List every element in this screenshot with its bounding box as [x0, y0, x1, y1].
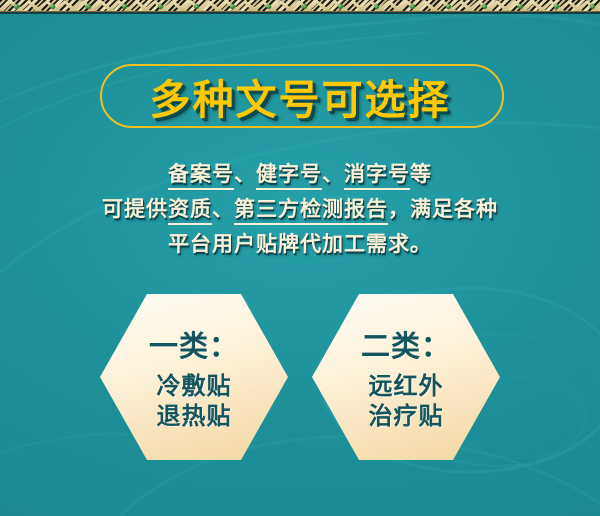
category-hexagon-one: 一类： 冷敷贴 退热贴: [100, 294, 288, 460]
border-gem-icon: [338, 4, 343, 9]
promo-poster: 多种文号可选择 备案号、健字号、消字号等可提供资质、第三方检测报告，满足各种平台…: [0, 0, 600, 516]
plain-text: 平台用户贴牌代加工需求。: [168, 231, 432, 256]
border-gem-icon: [302, 4, 307, 9]
border-gem-icon: [410, 4, 415, 9]
highlighted-term: 备案号: [168, 161, 234, 190]
highlighted-term: 消字号: [344, 161, 410, 190]
category-one-item-1: 冷敷贴: [157, 371, 232, 401]
border-gem-icon: [374, 4, 379, 9]
plain-text: ，满足各种: [388, 196, 498, 221]
border-gem-icon: [266, 4, 271, 9]
border-gem-icon: [230, 4, 235, 9]
border-gem-icon: [50, 4, 55, 9]
border-gem-icon: [158, 4, 163, 9]
category-one-item-2: 退热贴: [157, 401, 232, 431]
category-hexagon-two: 二类： 远红外 治疗贴: [312, 294, 500, 460]
category-one-title: 一类：: [149, 323, 239, 365]
border-gem-icon: [554, 4, 559, 9]
plain-text: 、: [234, 161, 256, 186]
plain-text: 可提供: [102, 196, 168, 221]
decorative-top-border: [0, 0, 600, 15]
page-title: 多种文号可选择: [0, 62, 600, 130]
category-two-item-1: 远红外: [369, 371, 444, 401]
border-gem-icon: [446, 4, 451, 9]
highlighted-term: 资质: [168, 196, 212, 225]
border-gem-icon: [194, 4, 199, 9]
description-line: 备案号、健字号、消字号等: [0, 156, 600, 191]
category-two-item-2: 治疗贴: [369, 401, 444, 431]
border-gem-icon: [518, 4, 523, 9]
plain-text: 等: [410, 161, 432, 186]
category-two-title: 二类：: [361, 323, 451, 365]
border-gem-icon: [482, 4, 487, 9]
border-gem-icon: [122, 4, 127, 9]
border-gem-icon: [14, 4, 19, 9]
border-gem-icon: [590, 4, 595, 9]
plain-text: 、: [212, 196, 234, 221]
highlighted-term: 健字号: [256, 161, 322, 190]
description-paragraph: 备案号、健字号、消字号等可提供资质、第三方检测报告，满足各种平台用户贴牌代加工需…: [0, 156, 600, 261]
plain-text: 、: [322, 161, 344, 186]
description-line: 可提供资质、第三方检测报告，满足各种: [0, 191, 600, 226]
border-gem-icon: [86, 4, 91, 9]
description-line: 平台用户贴牌代加工需求。: [0, 226, 600, 261]
border-dark-rule: [0, 12, 600, 14]
highlighted-term: 第三方检测报告: [234, 196, 388, 225]
